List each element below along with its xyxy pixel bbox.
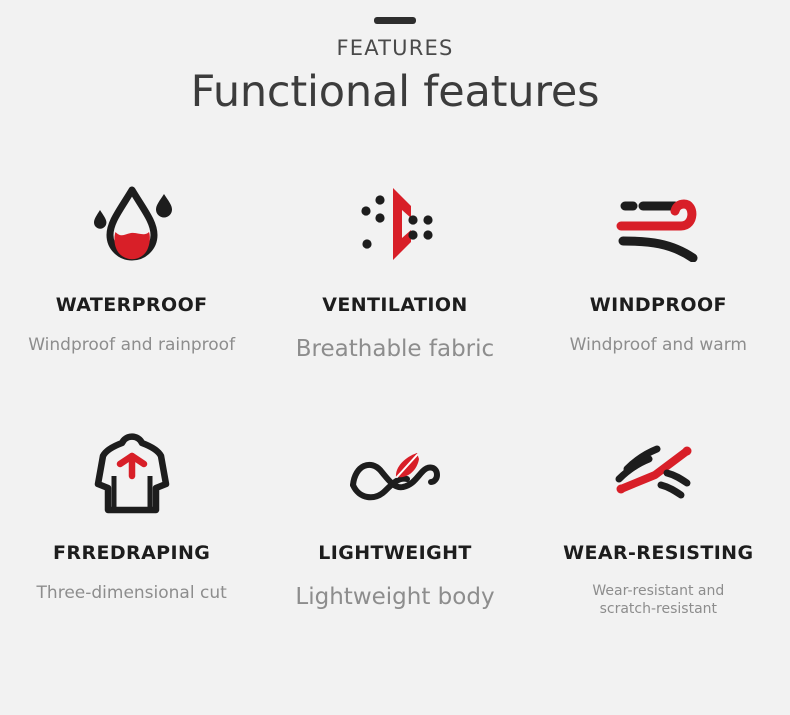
feature-title: LIGHTWEIGHT (318, 544, 472, 563)
feather-ribbon-icon (345, 426, 445, 518)
feature-subtitle: Three-dimensional cut (37, 583, 227, 604)
feature-subtitle: Lightweight body (295, 583, 494, 612)
feature-card-wear-resisting[interactable]: WEAR-RESISTING Wear-resistant andscratch… (527, 418, 790, 668)
feature-subtitle: Windproof and rainproof (28, 335, 235, 356)
page-title: Functional features (0, 70, 790, 115)
feature-title: WINDPROOF (590, 296, 727, 315)
water-drop-icon (86, 176, 178, 272)
feature-title: WATERPROOF (56, 296, 208, 315)
features-grid: WATERPROOF Windproof and rainproof (0, 168, 790, 668)
wind-lines-icon (609, 176, 707, 272)
feature-title: VENTILATION (322, 296, 467, 315)
features-row: WATERPROOF Windproof and rainproof (0, 168, 790, 418)
feature-subtitle: Breathable fabric (296, 335, 494, 364)
feature-title: FRREDRAPING (53, 544, 210, 563)
feature-card-windproof[interactable]: WINDPROOF Windproof and warm (527, 168, 790, 418)
feature-title: WEAR-RESISTING (563, 544, 753, 563)
feature-card-freedraping[interactable]: FRREDRAPING Three-dimensional cut (0, 418, 263, 668)
feature-card-ventilation[interactable]: VENTILATION Breathable fabric (263, 168, 526, 418)
scratch-marks-icon (611, 426, 705, 518)
hoodie-jacket-icon (90, 426, 174, 518)
features-row: FRREDRAPING Three-dimensional cut LIGHTW… (0, 418, 790, 668)
features-page: FEATURES Functional features WATERPROOF … (0, 0, 790, 715)
feature-subtitle: Windproof and warm (570, 335, 747, 356)
page-header: FEATURES Functional features (0, 0, 790, 115)
feature-card-waterproof[interactable]: WATERPROOF Windproof and rainproof (0, 168, 263, 418)
ventilation-arrow-icon (350, 176, 440, 272)
feature-card-lightweight[interactable]: LIGHTWEIGHT Lightweight body (263, 418, 526, 668)
divider-bar-icon (374, 17, 416, 24)
feature-subtitle: Wear-resistant andscratch-resistant (592, 583, 724, 618)
section-eyebrow: FEATURES (0, 38, 790, 59)
